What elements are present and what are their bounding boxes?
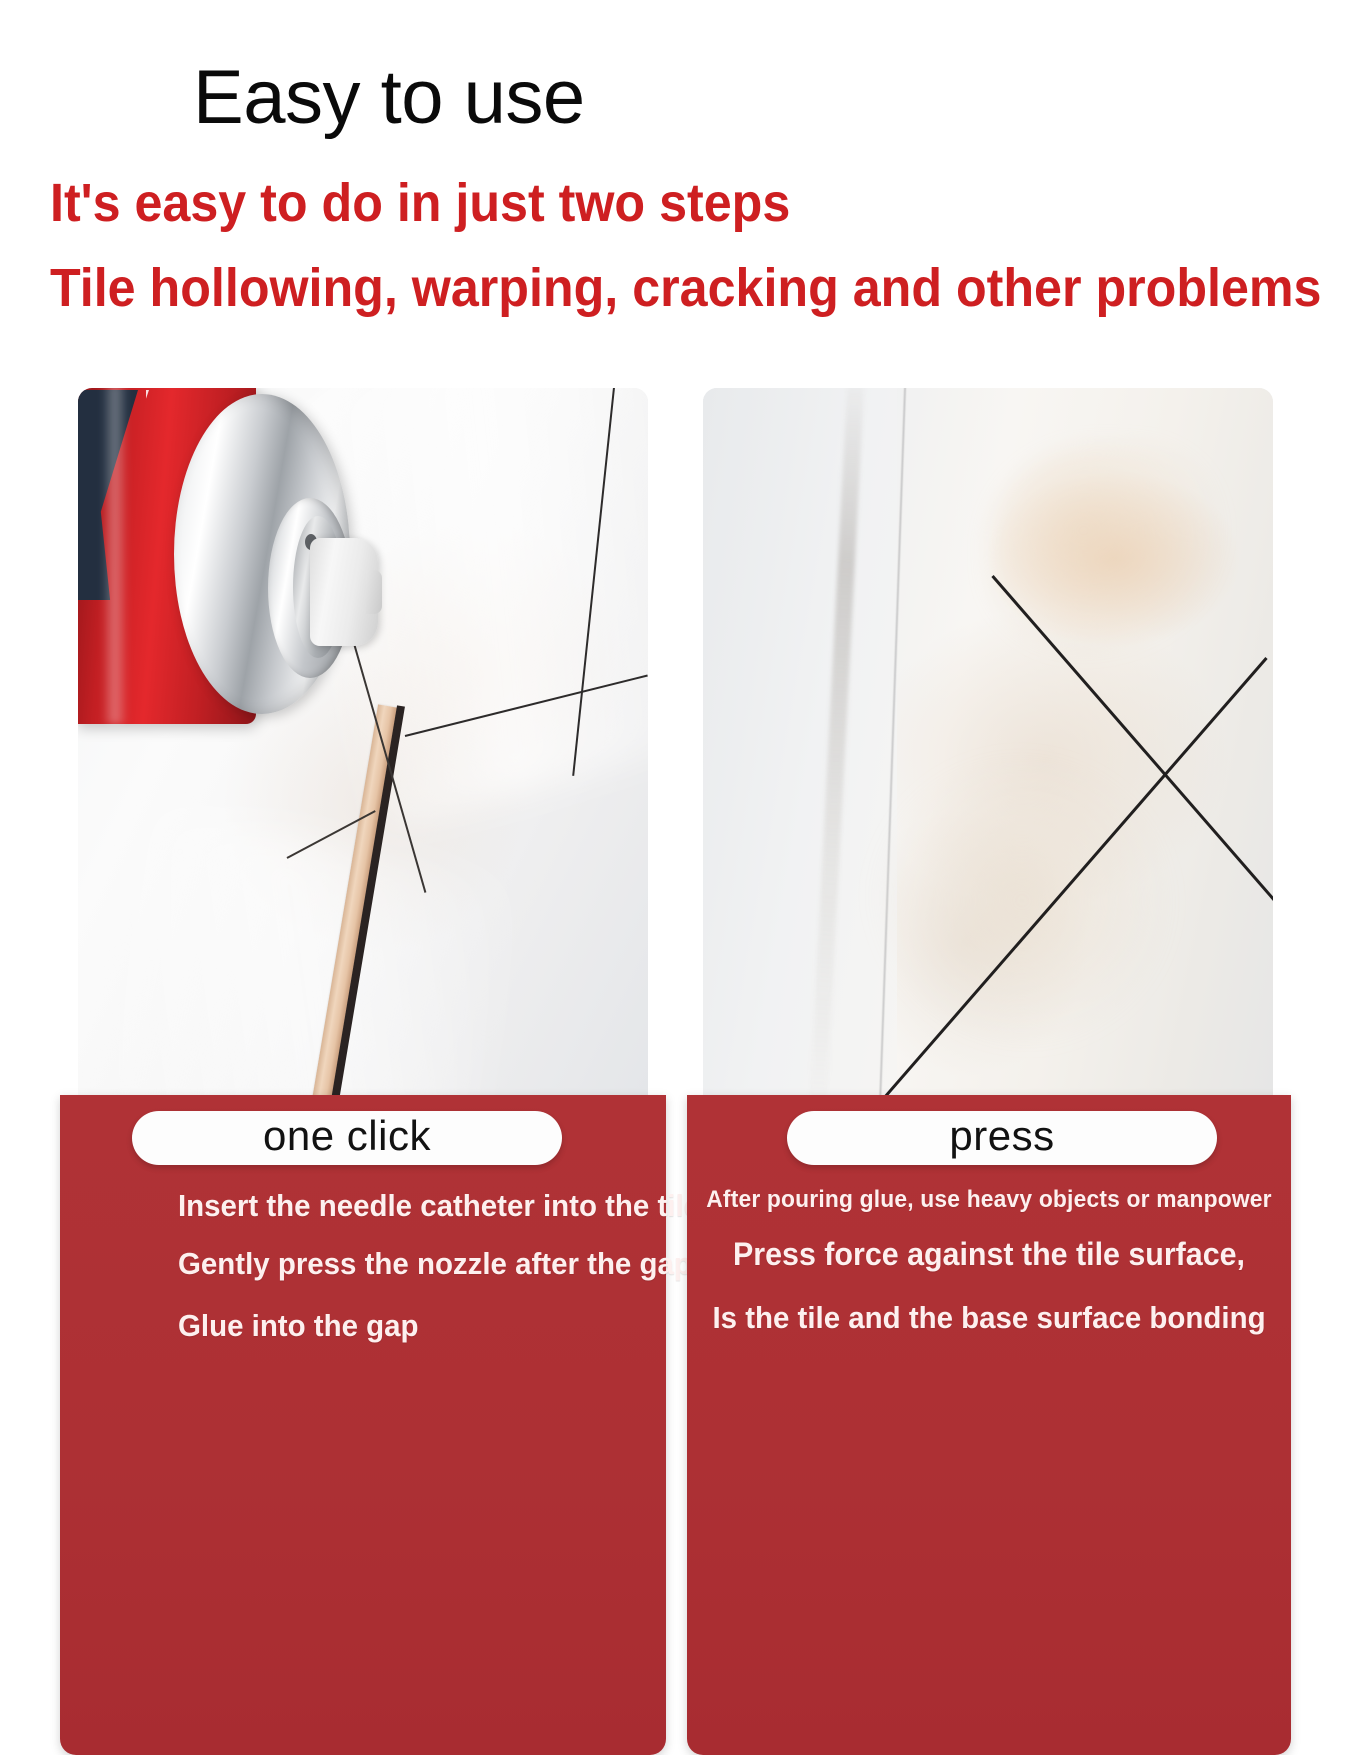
step-badge-label: press	[949, 1115, 1054, 1157]
step-photo-one-click	[78, 388, 648, 1100]
step-badge-one-click: one click	[132, 1111, 562, 1165]
caption-line: After pouring glue, use heavy objects or…	[702, 1177, 1276, 1223]
caption-card-press: press After pouring glue, use heavy obje…	[687, 1095, 1291, 1755]
steps-container: one click Insert the needle catheter int…	[0, 0, 1350, 1440]
step-card-press: press After pouring glue, use heavy obje…	[703, 388, 1273, 1368]
step-card-one-click: one click Insert the needle catheter int…	[78, 388, 648, 1368]
spray-can-highlight	[102, 388, 128, 724]
marble-tile-left-face	[703, 388, 897, 1100]
step-badge-press: press	[787, 1111, 1217, 1165]
caption-line: Insert the needle catheter into the tile	[178, 1177, 642, 1235]
caption-lines-one-click: Insert the needle catheter into the tile…	[60, 1177, 666, 1359]
step-badge-label: one click	[263, 1115, 431, 1157]
caption-lines-press: After pouring glue, use heavy objects or…	[687, 1177, 1291, 1351]
caption-line: Is the tile and the base surface bonding	[702, 1285, 1276, 1351]
step-photo-press	[703, 388, 1273, 1100]
caption-line: Glue into the gap	[178, 1293, 642, 1359]
spray-nozzle-tip	[366, 570, 382, 614]
caption-card-one-click: one click Insert the needle catheter int…	[60, 1095, 666, 1755]
caption-line: Gently press the nozzle after the gap	[178, 1235, 642, 1293]
caption-line: Press force against the tile surface,	[702, 1223, 1276, 1285]
